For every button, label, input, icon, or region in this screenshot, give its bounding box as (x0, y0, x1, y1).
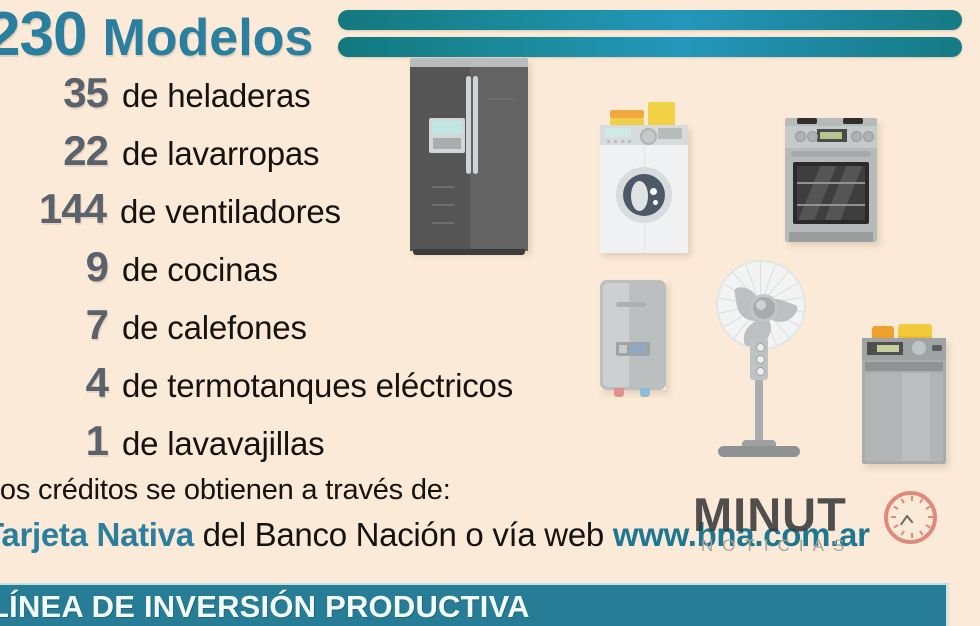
item-label: de lavarropas (122, 137, 319, 170)
decorative-bar-1 (338, 10, 962, 30)
item-quantity: 22 (0, 130, 108, 172)
item-quantity: 4 (0, 362, 108, 404)
total-models-number: 230 (0, 4, 86, 66)
decorative-bar-2 (338, 37, 962, 57)
item-label: de ventiladores (120, 195, 341, 228)
water-heater-illustration (600, 280, 666, 390)
list-item: 1 de lavavajillas (0, 420, 600, 478)
towel-orange (610, 110, 644, 118)
item-quantity: 144 (0, 188, 106, 230)
bottom-banner: LÍNEA DE INVERSIÓN PRODUCTIVA (0, 583, 949, 626)
refrigerator-illustration (410, 58, 528, 251)
brand-name: Tarjeta Nativa (0, 516, 194, 553)
washing-machine-body (600, 125, 688, 253)
headline: 230 Modelos (0, 4, 313, 66)
dishwasher-illustration (862, 338, 946, 464)
cold-pipe-icon (640, 388, 650, 397)
item-quantity: 1 (0, 420, 108, 462)
clock-icon (884, 491, 937, 544)
list-item: 7 de calefones (0, 304, 600, 362)
footer-line-2: Tarjeta Nativa del Banco Nación o vía we… (0, 516, 870, 554)
item-label: de heladeras (122, 79, 310, 112)
item-label: de lavavajillas (122, 427, 324, 460)
infographic-canvas: 230 Modelos 35 de heladeras 22 de lavarr… (0, 0, 980, 626)
oven-stove-illustration (785, 118, 877, 242)
item-quantity: 7 (0, 304, 108, 346)
footer-middle-text: del Banco Nación o vía web (194, 516, 613, 553)
total-models-word: Modelos (102, 12, 313, 64)
item-quantity: 35 (0, 72, 108, 114)
item-quantity: 9 (0, 246, 108, 288)
item-label: de termotanques eléctricos (122, 369, 513, 402)
footer-line-1: Los créditos se obtienen a través de: (0, 474, 870, 507)
bna-website-link[interactable]: www.bna.com.ar (613, 516, 870, 553)
footer-text: Los créditos se obtienen a través de: Ta… (0, 474, 870, 554)
item-label: de calefones (122, 311, 307, 344)
pedestal-fan-illustration (712, 260, 808, 460)
hot-pipe-icon (614, 388, 624, 397)
item-label: de cocinas (122, 253, 278, 286)
decorative-bars (338, 10, 962, 64)
list-item: 4 de termotanques eléctricos (0, 362, 600, 420)
banner-title: LÍNEA DE INVERSIÓN PRODUCTIVA (0, 589, 530, 625)
